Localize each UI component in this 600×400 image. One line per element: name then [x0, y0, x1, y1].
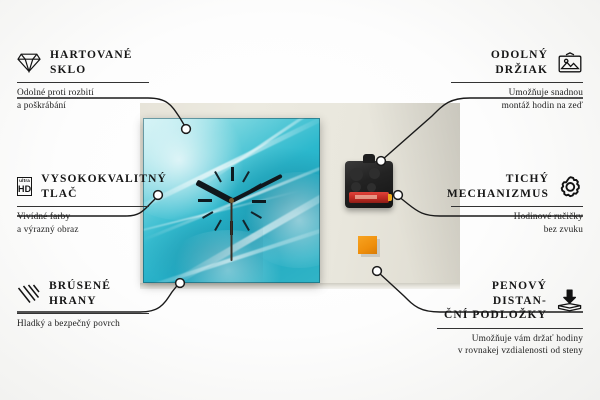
feature-subtitle: Hodinové ručičky bez zvuku	[451, 211, 583, 236]
feature-subtitle-line1: Vivídné farby	[17, 211, 149, 224]
feature-title-line2: TLAČ	[41, 187, 167, 202]
feature-divider	[437, 328, 583, 329]
feature-tempered-glass: HARTOVANÉ SKLO Odolné proti rozbití a po…	[17, 48, 149, 112]
wire-node-quiet	[394, 191, 403, 200]
feature-subtitle: Umožňuje vám držať hodiny v rovnakej vzd…	[437, 333, 583, 358]
feature-title-line2: ČNÍ PODLOŽKY	[437, 308, 547, 323]
feature-title-line2: DRŽIAK	[491, 63, 548, 78]
feature-title: ODOLNÝ DRŽIAK	[491, 48, 548, 77]
feature-title-line1: TICHÝ	[447, 172, 549, 187]
feature-title-line1: VYSOKOKVALITNÝ	[41, 172, 167, 187]
feature-heading: ODOLNÝ DRŽIAK	[451, 48, 583, 77]
feature-heading: PENOVÝ DISTAN- ČNÍ PODLOŽKY	[437, 279, 583, 323]
feature-divider	[17, 313, 149, 314]
feature-subtitle-line2: v rovnakej vzdialenosti od steny	[437, 345, 583, 358]
infographic-canvas: HARTOVANÉ SKLO Odolné proti rozbití a po…	[0, 0, 600, 400]
feature-subtitle-line1: Umožňuje vám držať hodiny	[437, 333, 583, 346]
feature-title-line1: PENOVÝ DISTAN-	[437, 279, 547, 308]
wall-frame-hanger-icon	[557, 52, 583, 74]
feature-subtitle: Umožňuje snadnou montáž hodin na zeď	[451, 87, 583, 112]
feature-subtitle-line2: a poškrábání	[17, 100, 149, 113]
gear-icon	[558, 175, 583, 199]
badge-large-text: HD	[18, 185, 31, 194]
feature-subtitle-line1: Hladký a bezpečný povrch	[17, 318, 149, 331]
wire-node-edges	[176, 279, 185, 288]
feature-title-line2: HRANY	[49, 294, 111, 309]
ultra-hd-badge-icon: ultra HD	[17, 177, 32, 196]
feature-subtitle-line1: Odolné proti rozbití	[17, 87, 149, 100]
feature-subtitle-line2: montáž hodin na zeď	[451, 100, 583, 113]
feature-subtitle: Vivídné farby a výrazný obraz	[17, 211, 149, 236]
feature-title: BRÚSENÉ HRANY	[49, 279, 111, 308]
feature-subtitle: Hladký a bezpečný povrch	[17, 318, 149, 331]
feature-title-line1: BRÚSENÉ	[49, 279, 111, 294]
diamond-icon	[17, 52, 41, 73]
feature-sanded-edges: BRÚSENÉ HRANY Hladký a bezpečný povrch	[17, 279, 149, 331]
feature-subtitle-line2: a výrazný obraz	[17, 224, 149, 237]
wire-node-glass	[182, 125, 191, 134]
feature-title: PENOVÝ DISTAN- ČNÍ PODLOŽKY	[437, 279, 547, 323]
feature-high-quality-print: ultra HD VYSOKOKVALITNÝ TLAČ Vivídné far…	[17, 172, 149, 236]
feature-foam-spacers: PENOVÝ DISTAN- ČNÍ PODLOŽKY Umožňuje vám…	[437, 279, 583, 358]
feature-heading: TICHÝ MECHANIZMUS	[451, 172, 583, 201]
feature-quiet-mechanism: TICHÝ MECHANIZMUS Hodinové ručičky bez z…	[451, 172, 583, 236]
sanded-edges-icon	[17, 284, 40, 304]
feature-title-line2: MECHANIZMUS	[447, 187, 549, 202]
feature-heading: ultra HD VYSOKOKVALITNÝ TLAČ	[17, 172, 149, 201]
foam-pad-arrow-icon	[556, 289, 583, 313]
feature-divider	[451, 82, 583, 83]
feature-title-line2: SKLO	[50, 63, 133, 78]
feature-subtitle-line2: bez zvuku	[451, 224, 583, 237]
feature-title-line1: HARTOVANÉ	[50, 48, 133, 63]
feature-heading: HARTOVANÉ SKLO	[17, 48, 149, 77]
feature-subtitle: Odolné proti rozbití a poškrábání	[17, 87, 149, 112]
feature-title: VYSOKOKVALITNÝ TLAČ	[41, 172, 167, 201]
feature-title-line1: ODOLNÝ	[491, 48, 548, 63]
feature-divider	[17, 82, 149, 83]
wire-node-foam	[373, 267, 382, 276]
feature-title: TICHÝ MECHANIZMUS	[447, 172, 549, 201]
feature-subtitle-line1: Umožňuje snadnou	[451, 87, 583, 100]
feature-heading: BRÚSENÉ HRANY	[17, 279, 149, 308]
feature-durable-holder: ODOLNÝ DRŽIAK Umožňuje snadnou montáž ho…	[451, 48, 583, 112]
feature-title: HARTOVANÉ SKLO	[50, 48, 133, 77]
feature-subtitle-line1: Hodinové ručičky	[451, 211, 583, 224]
wire-node-holder	[377, 157, 386, 166]
feature-divider	[17, 206, 149, 207]
feature-divider	[451, 206, 583, 207]
